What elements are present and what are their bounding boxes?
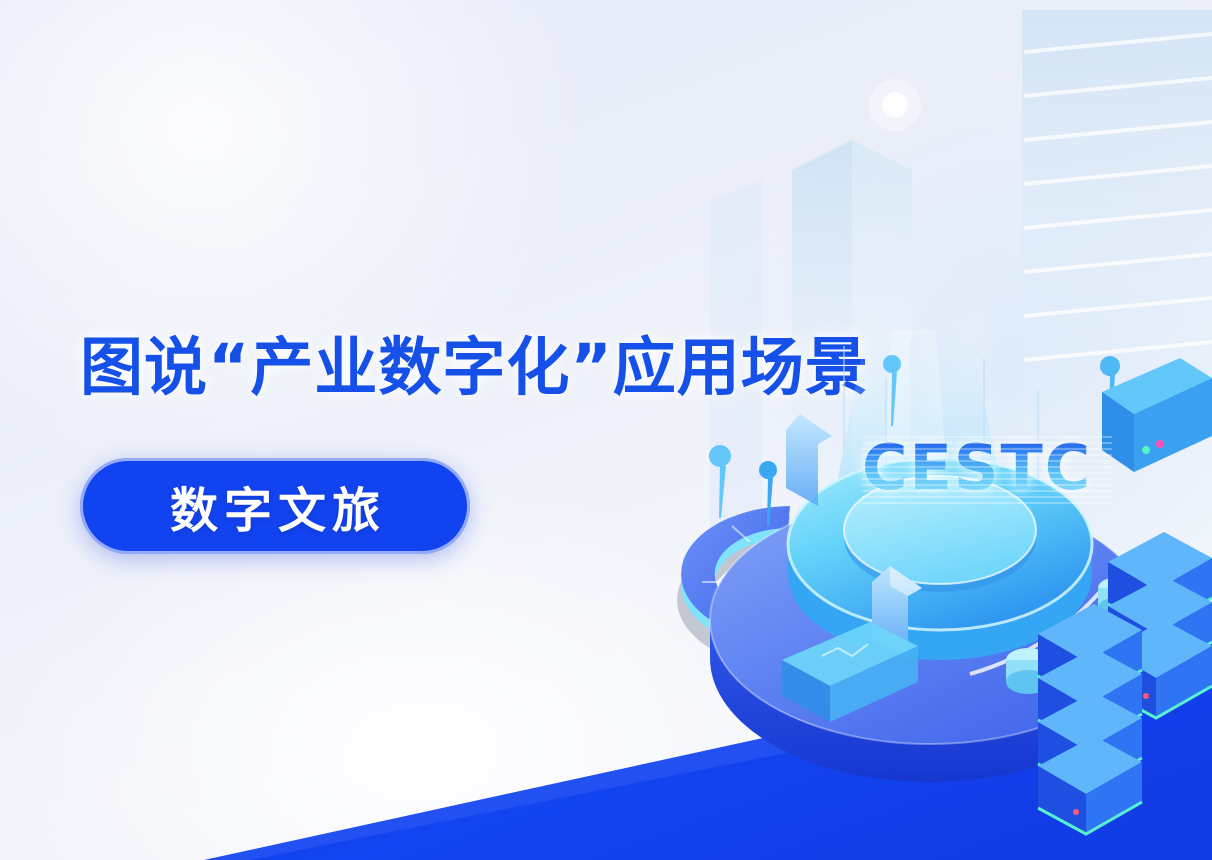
digital-industry-illustration [640,330,1212,860]
floating-up-arrow [786,414,832,506]
network-device-box [1102,358,1212,472]
banner-root: 图说“产业数字化”应用场景 数字文旅 [0,0,1212,860]
category-badge[interactable]: 数字文旅 [80,458,470,554]
arc-donut-segment [677,506,795,668]
ground-plane [0,550,1212,860]
server-rack-stack [1038,532,1212,834]
category-badge-label: 数字文旅 [164,471,386,541]
up-arrow-marker [872,566,922,660]
brand-wordmark: CESTC [862,432,1112,504]
deck-node-cylinder [1006,577,1194,694]
background-glow-top-left [0,0,580,480]
page-title: 图说“产业数字化”应用场景 [80,334,869,402]
circular-data-platform [710,496,1150,782]
laptop-device [782,622,918,722]
brand-wordmark-scanlines [862,432,1112,504]
city-skyline-silhouette [692,0,1212,620]
